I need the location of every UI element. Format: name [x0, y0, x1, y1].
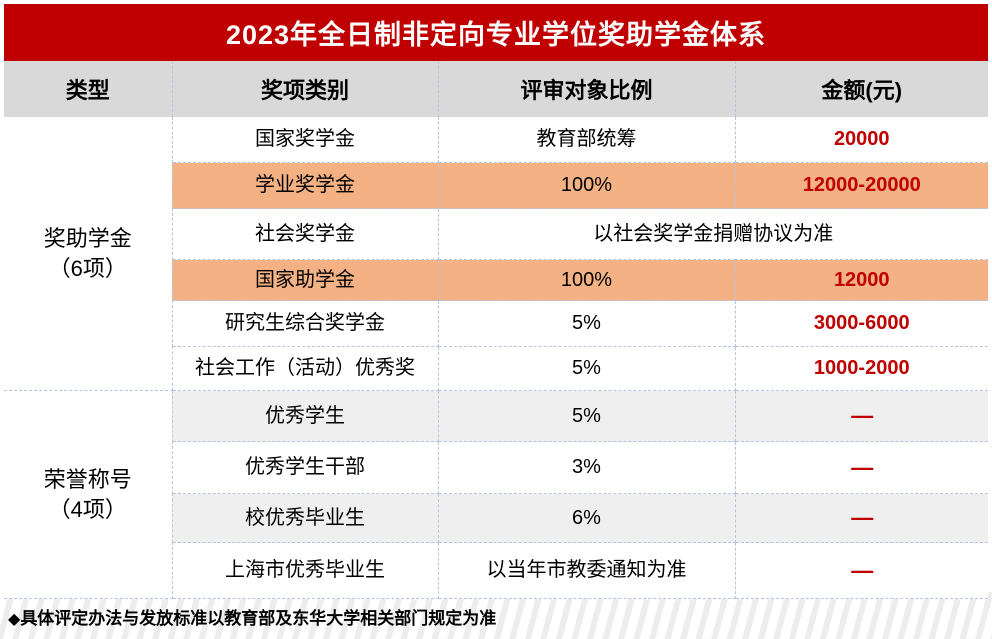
- cell-amount: 12000-20000: [735, 163, 988, 209]
- cell-ratio: 5%: [438, 347, 735, 391]
- cell-ratio: 以社会奖学金捐赠协议为准: [438, 209, 988, 260]
- column-header-type: 类型: [4, 61, 172, 117]
- footnote-text: 具体评定办法与发放标准以教育部及东华大学相关部门规定为准: [20, 609, 496, 628]
- cell-amount: 3000-6000: [735, 301, 988, 347]
- cell-ratio: 5%: [438, 391, 735, 442]
- cell-category: 社会奖学金: [172, 209, 438, 260]
- cell-amount: —: [735, 494, 988, 543]
- awards-table-wrapper: 2023年全日制非定向专业学位奖助学金体系 类型 奖项类别 评审对象比例 金额(…: [4, 4, 988, 599]
- group-name: 荣誉称号: [8, 465, 168, 495]
- cell-ratio: 6%: [438, 494, 735, 543]
- cell-ratio: 100%: [438, 163, 735, 209]
- cell-amount: —: [735, 442, 988, 494]
- column-header-category: 奖项类别: [172, 61, 438, 117]
- cell-amount: 20000: [735, 117, 988, 163]
- group-cell-honorary-title: 荣誉称号 （4项）: [4, 391, 172, 599]
- cell-amount: —: [735, 543, 988, 599]
- cell-ratio: 5%: [438, 301, 735, 347]
- cell-category: 优秀学生干部: [172, 442, 438, 494]
- cell-ratio: 以当年市教委通知为准: [438, 543, 735, 599]
- cell-category: 国家助学金: [172, 260, 438, 301]
- column-header-amount: 金额(元): [735, 61, 988, 117]
- cell-ratio: 3%: [438, 442, 735, 494]
- cell-ratio: 教育部统筹: [438, 117, 735, 163]
- group-cell-scholarship: 奖助学金 （6项）: [4, 117, 172, 391]
- cell-amount: 1000-2000: [735, 347, 988, 391]
- page-title: 2023年全日制非定向专业学位奖助学金体系: [4, 4, 988, 61]
- cell-category: 校优秀毕业生: [172, 494, 438, 543]
- group-name: 奖助学金: [8, 224, 168, 254]
- group-count: （6项）: [8, 254, 168, 284]
- cell-ratio: 100%: [438, 260, 735, 301]
- table-row: 奖助学金 （6项） 国家奖学金 教育部统筹 20000: [4, 117, 988, 163]
- page-root: 2023年全日制非定向专业学位奖助学金体系 类型 奖项类别 评审对象比例 金额(…: [0, 0, 992, 639]
- group-count: （4项）: [8, 495, 168, 525]
- table-title-row: 2023年全日制非定向专业学位奖助学金体系: [4, 4, 988, 61]
- diamond-bullet-icon: ◆: [8, 611, 20, 628]
- cell-category: 研究生综合奖学金: [172, 301, 438, 347]
- column-header-ratio: 评审对象比例: [438, 61, 735, 117]
- cell-category: 优秀学生: [172, 391, 438, 442]
- table-row: 荣誉称号 （4项） 优秀学生 5% —: [4, 391, 988, 442]
- cell-category: 国家奖学金: [172, 117, 438, 163]
- cell-category: 学业奖学金: [172, 163, 438, 209]
- cell-category: 上海市优秀毕业生: [172, 543, 438, 599]
- table-header-row: 类型 奖项类别 评审对象比例 金额(元): [4, 61, 988, 117]
- footnote: ◆具体评定办法与发放标准以教育部及东华大学相关部门规定为准: [8, 604, 496, 629]
- cell-category: 社会工作（活动）优秀奖: [172, 347, 438, 391]
- cell-amount: —: [735, 391, 988, 442]
- cell-amount: 12000: [735, 260, 988, 301]
- awards-table: 2023年全日制非定向专业学位奖助学金体系 类型 奖项类别 评审对象比例 金额(…: [4, 4, 988, 599]
